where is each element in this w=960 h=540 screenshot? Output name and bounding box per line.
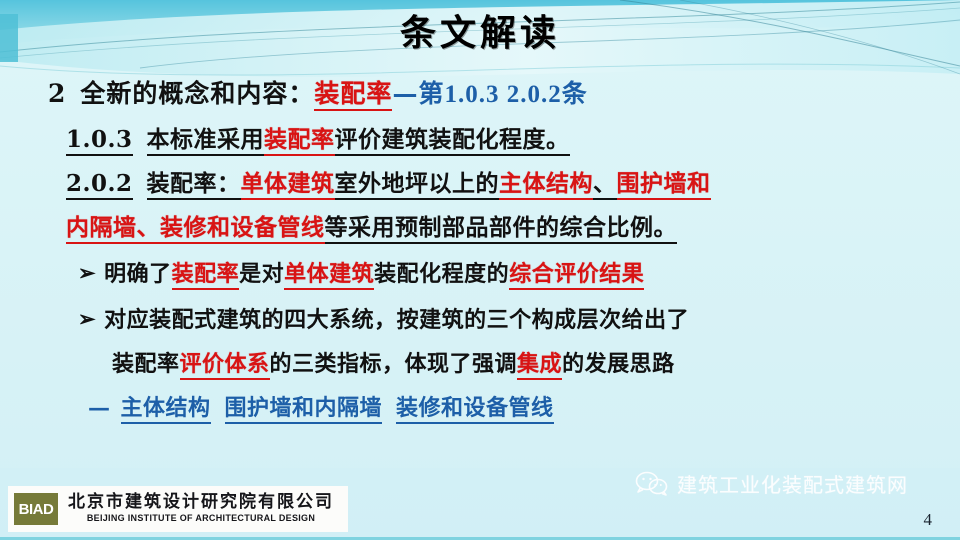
heading-clauses: 第1.0.3 2.0.2条 [418,81,587,108]
clause-202-text-2: 等采用预制部品部件的综合比例。 [325,214,678,244]
clause-202-line-2: 内隔墙、装修和设备管线等采用预制部品部件的综合比例。 [66,208,677,242]
bullet-2-text-3: 的发展思路 [562,351,675,377]
bullet-2-highlight-2: 集成 [517,351,562,380]
bullet-item-2-continued: 装配率评价体系的三类指标，体现了强调集成的发展思路 [112,346,675,378]
clause-103-number: 1.0.3 [66,126,133,156]
arrow-bullet-icon: ➢ [78,260,96,285]
clause-202-number: 2.0.2 [66,170,133,200]
biad-logo-text: 北京市建筑设计研究院有限公司 BEIJING INSTITUTE OF ARCH… [68,494,334,523]
watermark-text: 建筑工业化装配式建筑网 [677,469,908,498]
heading-term: 装配率 [314,79,392,111]
company-name-en: BEIJING INSTITUTE OF ARCHITECTURAL DESIG… [68,514,334,523]
clause-202-term: 装配率： [147,170,241,200]
clause-202-sep-2: 、 [137,214,161,244]
clause-103-text-1: 本标准采用 [147,126,265,156]
clause-103: 1.0.3本标准采用装配率评价建筑装配化程度。 [66,120,570,154]
biad-logo: BIAD 北京市建筑设计研究院有限公司 BEIJING INSTITUTE OF… [8,486,348,532]
clause-202-text-1: 室外地坪以上的 [335,170,500,200]
bullet-2-line-1: 对应装配式建筑的四大系统，按建筑的三个构成层次给出了 [104,307,689,333]
bullet-1-text-3: 装配化程度的 [374,261,509,287]
heading-text: 全新的概念和内容： [80,79,314,108]
clause-202-highlight-3: 围护墙和 [617,170,711,200]
summary-dash: — [88,395,111,421]
clause-103-highlight: 装配率 [264,126,335,156]
summary-item-3: 装修和设备管线 [396,395,554,424]
arrow-bullet-icon: ➢ [78,306,96,331]
biad-mark-icon: BIAD [14,493,58,525]
bullet-2-text-1: 装配率 [112,351,180,377]
clause-202-highlight-5: 装修和设备管线 [160,214,325,244]
company-name-cn: 北京市建筑设计研究院有限公司 [68,494,334,512]
bullet-1-highlight-2: 单体建筑 [284,261,374,290]
slide-title: 条文解读 [0,4,960,56]
clause-202-highlight-2: 主体结构 [499,170,593,200]
section-heading: 2全新的概念和内容：装配率—第1.0.3 2.0.2条 [48,74,588,110]
bullet-2-highlight-1: 评价体系 [180,351,270,380]
summary-line: —主体结构围护墙和内隔墙装修和设备管线 [88,390,554,422]
bullet-item-2: ➢对应装配式建筑的四大系统，按建筑的三个构成层次给出了 [78,302,689,334]
bullet-2-text-2: 的三类指标，体现了强调 [270,351,518,377]
wechat-icon [635,471,669,497]
summary-item-1: 主体结构 [121,395,211,424]
watermark: 建筑工业化装配式建筑网 [635,469,908,498]
summary-item-2: 围护墙和内隔墙 [225,395,383,424]
heading-number: 2 [48,79,66,108]
bullet-1-highlight-3: 综合评价结果 [509,261,644,290]
clause-202-line-1: 2.0.2装配率：单体建筑室外地坪以上的主体结构、围护墙和 [66,164,711,198]
bullet-item-1: ➢明确了装配率是对单体建筑装配化程度的综合评价结果 [78,256,644,288]
clause-202-highlight-4: 内隔墙 [66,214,137,244]
clause-202-sep-1: 、 [593,170,617,200]
bullet-1-text-2: 是对 [239,261,284,287]
page-number: 4 [924,510,933,530]
clause-103-text-2: 评价建筑装配化程度。 [335,126,570,156]
heading-dash: — [392,79,418,108]
bullet-1-highlight-1: 装配率 [172,261,240,290]
clause-202-highlight-1: 单体建筑 [241,170,335,200]
bullet-1-text-1: 明确了 [104,261,172,287]
slide-content: 2全新的概念和内容：装配率—第1.0.3 2.0.2条 1.0.3本标准采用装配… [0,70,960,470]
presentation-slide: 条文解读 2全新的概念和内容：装配率—第1.0.3 2.0.2条 1.0.3本标… [0,0,960,540]
